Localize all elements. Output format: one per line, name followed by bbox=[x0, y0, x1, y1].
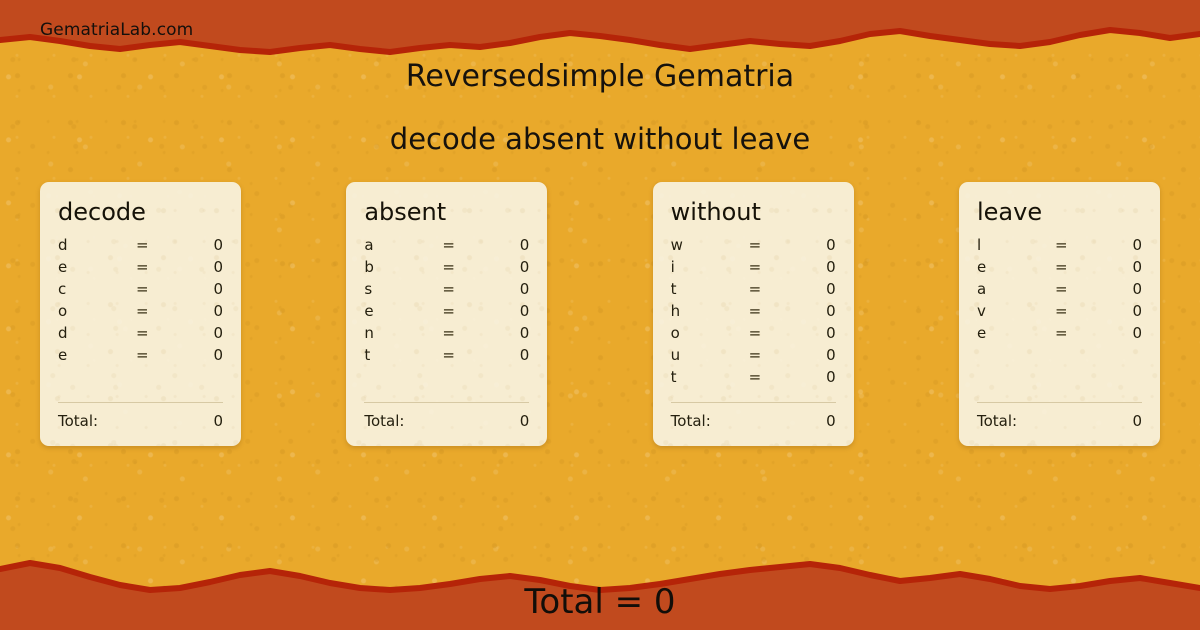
letter-value: 0 bbox=[1115, 324, 1142, 342]
letter-row: i = 0 bbox=[671, 258, 836, 280]
letter: e bbox=[58, 258, 136, 276]
letter: u bbox=[671, 346, 749, 364]
letter: s bbox=[364, 280, 442, 298]
letter-value: 0 bbox=[196, 280, 223, 298]
letter: h bbox=[671, 302, 749, 320]
letter-value: 0 bbox=[502, 324, 529, 342]
letter: d bbox=[58, 324, 136, 342]
letter-value: 0 bbox=[196, 236, 223, 254]
letter-row: u = 0 bbox=[671, 346, 836, 368]
letter-row: t = 0 bbox=[671, 280, 836, 302]
letter-row: e = 0 bbox=[364, 302, 529, 324]
letter: i bbox=[671, 258, 749, 276]
letter-row: v = 0 bbox=[977, 302, 1142, 324]
card-divider bbox=[977, 402, 1142, 403]
equals-sign: = bbox=[1055, 302, 1115, 320]
letter-value: 0 bbox=[502, 258, 529, 276]
letter: e bbox=[977, 258, 1055, 276]
letter-value: 0 bbox=[502, 302, 529, 320]
letter-row: e = 0 bbox=[58, 258, 223, 280]
card-total-row: Total: 0 bbox=[58, 412, 223, 432]
equals-sign: = bbox=[1055, 324, 1115, 342]
word-card: without w = 0 i = 0 t = 0 h bbox=[653, 182, 854, 446]
letter: d bbox=[58, 236, 136, 254]
letter-value: 0 bbox=[502, 236, 529, 254]
equals-sign: = bbox=[442, 302, 502, 320]
letter: t bbox=[671, 280, 749, 298]
letter: b bbox=[364, 258, 442, 276]
card-word: without bbox=[671, 198, 836, 227]
card-spacer bbox=[58, 368, 223, 402]
equals-sign: = bbox=[442, 236, 502, 254]
letter-row: a = 0 bbox=[364, 236, 529, 258]
letter: a bbox=[977, 280, 1055, 298]
word-card-list: decode d = 0 e = 0 c = 0 o bbox=[40, 182, 1160, 446]
card-divider bbox=[58, 402, 223, 403]
letter-value: 0 bbox=[502, 346, 529, 364]
letter: l bbox=[977, 236, 1055, 254]
letter: e bbox=[364, 302, 442, 320]
equals-sign: = bbox=[136, 346, 196, 364]
letter-row: n = 0 bbox=[364, 324, 529, 346]
letter-row: c = 0 bbox=[58, 280, 223, 302]
card-divider bbox=[671, 402, 836, 403]
equals-sign: = bbox=[1055, 258, 1115, 276]
letter-value: 0 bbox=[1115, 302, 1142, 320]
letter-row: e = 0 bbox=[58, 346, 223, 368]
equals-sign: = bbox=[442, 346, 502, 364]
card-total-label: Total: bbox=[671, 412, 826, 430]
letter-value: 0 bbox=[196, 346, 223, 364]
equals-sign: = bbox=[136, 280, 196, 298]
letter: w bbox=[671, 236, 749, 254]
card-word: decode bbox=[58, 198, 223, 227]
letter: a bbox=[364, 236, 442, 254]
letter: t bbox=[671, 368, 749, 386]
site-brand[interactable]: GematriaLab.com bbox=[40, 20, 193, 40]
letter-row: o = 0 bbox=[671, 324, 836, 346]
letter: v bbox=[977, 302, 1055, 320]
card-word: absent bbox=[364, 198, 529, 227]
card-total-row: Total: 0 bbox=[671, 412, 836, 432]
card-total-label: Total: bbox=[58, 412, 213, 430]
equals-sign: = bbox=[442, 258, 502, 276]
card-spacer bbox=[977, 346, 1142, 402]
letter-value: 0 bbox=[1115, 236, 1142, 254]
letter-value: 0 bbox=[1115, 280, 1142, 298]
equals-sign: = bbox=[1055, 236, 1115, 254]
letter-row: a = 0 bbox=[977, 280, 1142, 302]
letter-row: s = 0 bbox=[364, 280, 529, 302]
equals-sign: = bbox=[749, 280, 809, 298]
letter-row: t = 0 bbox=[364, 346, 529, 368]
letter: c bbox=[58, 280, 136, 298]
equals-sign: = bbox=[136, 324, 196, 342]
letter-value: 0 bbox=[196, 258, 223, 276]
letter-value-rows: w = 0 i = 0 t = 0 h = 0 bbox=[671, 236, 836, 390]
letter-value: 0 bbox=[196, 324, 223, 342]
card-total-value: 0 bbox=[1132, 412, 1142, 430]
card-total-label: Total: bbox=[364, 412, 519, 430]
letter-value-rows: a = 0 b = 0 s = 0 e = 0 bbox=[364, 236, 529, 368]
equals-sign: = bbox=[749, 236, 809, 254]
letter: e bbox=[977, 324, 1055, 342]
card-total-row: Total: 0 bbox=[977, 412, 1142, 432]
equals-sign: = bbox=[749, 302, 809, 320]
equals-sign: = bbox=[749, 346, 809, 364]
letter-value: 0 bbox=[809, 280, 836, 298]
equals-sign: = bbox=[1055, 280, 1115, 298]
grand-total: Total = 0 bbox=[0, 582, 1200, 622]
word-card: absent a = 0 b = 0 s = 0 e bbox=[346, 182, 547, 446]
letter-value: 0 bbox=[1115, 258, 1142, 276]
card-total-value: 0 bbox=[826, 412, 836, 430]
card-divider bbox=[364, 402, 529, 403]
word-card: decode d = 0 e = 0 c = 0 o bbox=[40, 182, 241, 446]
equals-sign: = bbox=[749, 368, 809, 386]
card-total-row: Total: 0 bbox=[364, 412, 529, 432]
letter: o bbox=[671, 324, 749, 342]
equals-sign: = bbox=[749, 324, 809, 342]
letter-value: 0 bbox=[809, 302, 836, 320]
word-card: leave l = 0 e = 0 a = 0 v bbox=[959, 182, 1160, 446]
equals-sign: = bbox=[442, 324, 502, 342]
letter-value: 0 bbox=[809, 236, 836, 254]
poster-canvas: GematriaLab.com Reversedsimple Gematria … bbox=[0, 0, 1200, 630]
letter-row: h = 0 bbox=[671, 302, 836, 324]
card-total-value: 0 bbox=[213, 412, 223, 430]
letter-row: w = 0 bbox=[671, 236, 836, 258]
equals-sign: = bbox=[136, 258, 196, 276]
letter: e bbox=[58, 346, 136, 364]
letter-row: b = 0 bbox=[364, 258, 529, 280]
card-spacer bbox=[671, 390, 836, 402]
letter-row: e = 0 bbox=[977, 324, 1142, 346]
letter-value: 0 bbox=[196, 302, 223, 320]
letter: t bbox=[364, 346, 442, 364]
letter-row: d = 0 bbox=[58, 236, 223, 258]
letter-row: d = 0 bbox=[58, 324, 223, 346]
page-subtitle: decode absent without leave bbox=[0, 122, 1200, 156]
equals-sign: = bbox=[136, 236, 196, 254]
card-word: leave bbox=[977, 198, 1142, 227]
letter: o bbox=[58, 302, 136, 320]
card-spacer bbox=[364, 368, 529, 402]
letter-row: e = 0 bbox=[977, 258, 1142, 280]
letter: n bbox=[364, 324, 442, 342]
letter-value: 0 bbox=[809, 258, 836, 276]
equals-sign: = bbox=[442, 280, 502, 298]
letter-value-rows: l = 0 e = 0 a = 0 v = 0 bbox=[977, 236, 1142, 346]
letter-value: 0 bbox=[809, 346, 836, 364]
letter-value: 0 bbox=[809, 324, 836, 342]
letter-value-rows: d = 0 e = 0 c = 0 o = 0 bbox=[58, 236, 223, 368]
page-title: Reversedsimple Gematria bbox=[0, 59, 1200, 94]
letter-value: 0 bbox=[809, 368, 836, 386]
letter-row: o = 0 bbox=[58, 302, 223, 324]
card-total-label: Total: bbox=[977, 412, 1132, 430]
equals-sign: = bbox=[749, 258, 809, 276]
letter-value: 0 bbox=[502, 280, 529, 298]
equals-sign: = bbox=[136, 302, 196, 320]
card-total-value: 0 bbox=[520, 412, 530, 430]
letter-row: l = 0 bbox=[977, 236, 1142, 258]
letter-row: t = 0 bbox=[671, 368, 836, 390]
